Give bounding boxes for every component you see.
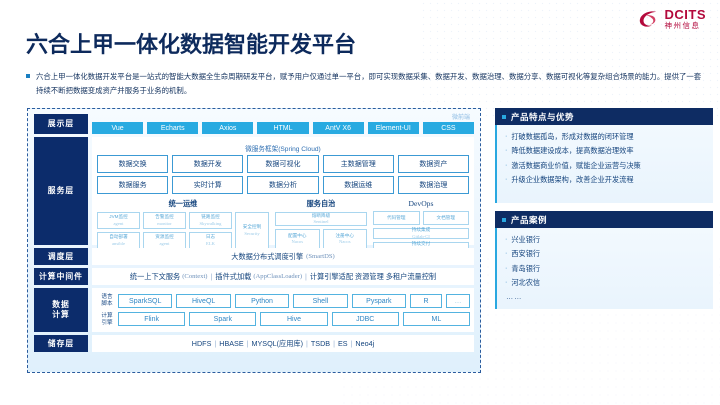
- tech-tag[interactable]: Element-UI: [368, 122, 419, 134]
- group-title-devops: DevOps: [373, 199, 469, 208]
- slide-canvas: DCITS 神州信息 六合上甲一体化数据智能开发平台 六合上甲一体化数据开发平台…: [0, 0, 720, 405]
- ops-item[interactable]: 告警监控 monitor: [143, 212, 186, 229]
- case-item: · 西安银行: [505, 249, 707, 258]
- case-item: · 河北农信: [505, 278, 707, 287]
- advantage-text: 升级企业数据架构，改善企业开发流程: [511, 175, 633, 184]
- compute-layer-body: 语言 脚本 计算 引擎 SparkSQL HiveQL Python Shell…: [92, 288, 474, 332]
- card-advantages-body: · 打破数据孤岛，形成对数据的闭环管理 · 降低数据建设成本，提高数据治理效率 …: [495, 125, 713, 203]
- advantage-text: 激活数据商业价值，赋能企业运营与决策: [511, 161, 640, 170]
- card-cases: 产品案例 · 兴业银行 · 西安银行 · 青岛银行 · 河北农信: [495, 211, 713, 309]
- service-capability[interactable]: 主数据管理: [323, 155, 394, 173]
- case-text: 青岛银行: [511, 264, 540, 273]
- service-capability-row-2: 数据服务 实时计算 数据分析 数据运维 数据治理: [97, 176, 469, 194]
- advantage-item: · 激活数据商业价值，赋能企业运营与决策: [505, 161, 707, 170]
- advantage-text: 打破数据孤岛，形成对数据的闭环管理: [511, 132, 633, 141]
- ops-item[interactable]: 资源监控 agent: [143, 232, 186, 249]
- storage-item: TSDB: [311, 339, 330, 348]
- case-text: 西安银行: [511, 249, 540, 258]
- bullet-dot-icon: ·: [505, 235, 507, 244]
- case-more: ……: [505, 292, 707, 301]
- tech-tag[interactable]: CSS: [423, 122, 474, 134]
- advantage-text: 降低数据建设成本，提高数据治理效率: [511, 146, 633, 155]
- unified-ops-row-b: 自动部署 ansible 资源监控 agent 日志: [97, 232, 232, 249]
- ops-item[interactable]: JVM监控 agent: [97, 212, 140, 229]
- ops-item-en: ansible: [112, 241, 125, 247]
- service-capability[interactable]: 数据交换: [97, 155, 168, 173]
- schedule-engine-code: (SmartDS): [306, 253, 335, 260]
- card-advantages: 产品特点与优势 · 打破数据孤岛，形成对数据的闭环管理 · 降低数据建设成本，提…: [495, 108, 713, 203]
- intro-text: 六合上甲一体化数据开发平台是一站式的智能大数据全生命周期研发平台，赋予用户仅通过…: [36, 70, 706, 97]
- service-capability[interactable]: 数据分析: [247, 176, 318, 194]
- middleware-layer-row: 计算中间件 统一上下文服务 (Context) | 插件式加载 (AppClas…: [34, 268, 474, 285]
- ops-item-en: monitor: [157, 221, 172, 227]
- layer-label-middleware: 计算中间件: [34, 268, 88, 285]
- brand-name-cn: 神州信息: [665, 22, 707, 30]
- language-chip[interactable]: R: [410, 294, 442, 308]
- bullet-dot-icon: ·: [505, 146, 507, 155]
- card-cases-header: 产品案例: [495, 211, 713, 228]
- storage-item: MYSQL(应用库): [252, 339, 304, 349]
- case-text: 兴业银行: [511, 235, 540, 244]
- governance-item-en: Nacos: [292, 239, 303, 245]
- ops-item-en: ELK: [206, 241, 215, 247]
- group-unified-ops: 统一运维 JVM监控 agent 告警监控: [97, 199, 269, 253]
- case-item: · 青岛银行: [505, 264, 707, 273]
- service-capability[interactable]: 数据开发: [172, 155, 243, 173]
- middleware-part: 计算引擎适配 资源管理 多租户流量控制: [310, 272, 436, 282]
- governance-item[interactable]: 熔断降级 Sentinel: [275, 212, 367, 226]
- engine-chip[interactable]: Hive: [260, 312, 327, 326]
- middleware-part: 统一上下文服务: [130, 272, 180, 282]
- unified-ops-grid: JVM监控 agent 告警监控 monitor 链路监控: [97, 212, 269, 249]
- group-title-unified-ops: 统一运维: [97, 199, 269, 209]
- advantage-item: · 打破数据孤岛，形成对数据的闭环管理: [505, 132, 707, 141]
- separator: |: [305, 272, 307, 281]
- bullet-dot-icon: ·: [505, 132, 507, 141]
- layer-label-schedule: 调度层: [34, 248, 88, 265]
- devops-item-cn: 文档管理: [437, 215, 455, 221]
- storage-item: HBASE: [219, 339, 243, 348]
- case-text: 河北农信: [511, 278, 540, 287]
- schedule-layer-row: 调度层 大数据分布式调度引擎 (SmartDS): [34, 248, 474, 265]
- language-chip[interactable]: Python: [235, 294, 289, 308]
- presentation-tag-list: Vue Echarts Axios HTML AntV X6 Element-U…: [92, 122, 474, 134]
- card-advantages-title: 产品特点与优势: [511, 111, 574, 123]
- engine-chip[interactable]: JDBC: [332, 312, 399, 326]
- group-devops: DevOps 代码管理 文档管理 持续集成: [373, 199, 469, 253]
- bullet-dot-icon: ·: [505, 264, 507, 273]
- layer-label-compute-line2: 计算: [52, 310, 70, 320]
- service-layer-body: 微服务框架(Spring Cloud) 数据交换 数据开发 数据可视化 主数据管…: [92, 137, 474, 245]
- compute-side-labels: 语言 脚本 计算 引擎: [96, 291, 118, 329]
- devops-item-cn: 代码管理: [387, 215, 405, 221]
- ops-item[interactable]: 链路监控 Skywalking: [189, 212, 232, 229]
- language-chip[interactable]: SparkSQL: [118, 294, 172, 308]
- layer-label-service: 服务层: [34, 137, 88, 245]
- unified-ops-row-a: JVM监控 agent 告警监控 monitor 链路监控: [97, 212, 232, 229]
- architecture-diagram: 展示层 微前端 Vue Echarts Axios HTML AntV X6 E…: [27, 108, 481, 373]
- ops-item-security[interactable]: 安全控制 Security: [235, 212, 269, 249]
- ops-item[interactable]: 日志 ELK: [189, 232, 232, 249]
- group-title-service-governance: 服务自治: [275, 199, 367, 209]
- tech-tag[interactable]: Echarts: [147, 122, 198, 134]
- governance-item[interactable]: 配置中心 Nacos: [275, 229, 320, 249]
- unified-ops-left: JVM监控 agent 告警监控 monitor 链路监控: [97, 212, 232, 249]
- governance-row: 配置中心 Nacos 注册中心 Nacos: [275, 229, 367, 249]
- separator: |: [214, 339, 216, 348]
- service-support-groups: 统一运维 JVM监控 agent 告警监控: [97, 199, 469, 253]
- brand-logo: DCITS 神州信息: [638, 8, 707, 30]
- engine-chip[interactable]: Flink: [118, 312, 185, 326]
- schedule-engine-name: 大数据分布式调度引擎: [231, 252, 303, 262]
- storage-item: ES: [338, 339, 348, 348]
- devops-item[interactable]: 代码管理: [373, 211, 420, 225]
- language-chip[interactable]: HiveQL: [176, 294, 230, 308]
- service-governance-grid: 熔断降级 Sentinel 配置中心 Nacos 注册中心 N: [275, 212, 367, 249]
- swirl-logo-icon: [638, 9, 660, 29]
- bullet-dot-icon: ·: [505, 161, 507, 170]
- separator: |: [247, 339, 249, 348]
- separator: |: [306, 339, 308, 348]
- bullet-square-icon: [502, 115, 506, 119]
- card-advantages-header: 产品特点与优势: [495, 108, 713, 125]
- devops-item-en: Gitlab-CI: [412, 234, 430, 240]
- tech-tag[interactable]: Axios: [202, 122, 253, 134]
- bullet-dot-icon: ·: [505, 249, 507, 258]
- service-capability[interactable]: 实时计算: [172, 176, 243, 194]
- bullet-square-icon: [502, 218, 506, 222]
- storage-layer-body: HDFS | HBASE | MYSQL(应用库) | TSDB | ES | …: [92, 335, 474, 352]
- bullet-dot-icon: ·: [505, 175, 507, 184]
- presentation-layer-body: 微前端 Vue Echarts Axios HTML AntV X6 Eleme…: [92, 114, 474, 134]
- advantage-item: · 降低数据建设成本，提高数据治理效率: [505, 146, 707, 155]
- separator: |: [351, 339, 353, 348]
- presentation-layer-row: 展示层 微前端 Vue Echarts Axios HTML AntV X6 E…: [34, 114, 474, 134]
- service-capability[interactable]: 数据治理: [398, 176, 469, 194]
- middleware-part: 插件式加载: [215, 272, 251, 282]
- compute-side-label-engine: 计算 引擎: [96, 313, 118, 326]
- devops-item[interactable]: 持续集成 Gitlab-CI: [373, 228, 469, 239]
- storage-layer-row: 储存层 HDFS | HBASE | MYSQL(应用库) | TSDB | E…: [34, 335, 474, 352]
- service-capability[interactable]: 数据可视化: [247, 155, 318, 173]
- middleware-layer-body: 统一上下文服务 (Context) | 插件式加载 (AppClassLoade…: [92, 268, 474, 285]
- devops-item[interactable]: 文档管理: [423, 211, 470, 225]
- compute-layer-row: 数据 计算 语言 脚本 计算 引擎 SparkSQ: [34, 288, 474, 332]
- devops-row: 代码管理 文档管理: [373, 211, 469, 225]
- card-cases-body: · 兴业银行 · 西安银行 · 青岛银行 · 河北农信 ……: [495, 228, 713, 309]
- unified-ops-right: 安全控制 Security: [235, 212, 269, 249]
- advantage-item: · 升级企业数据架构，改善企业开发流程: [505, 175, 707, 184]
- layer-label-compute: 数据 计算: [34, 288, 88, 332]
- schedule-layer-body: 大数据分布式调度引擎 (SmartDS): [92, 248, 474, 265]
- tech-tag[interactable]: Vue: [92, 122, 143, 134]
- service-capability[interactable]: 数据资产: [398, 155, 469, 173]
- separator: |: [333, 339, 335, 348]
- middleware-part-code: (AppClassLoader): [253, 273, 302, 280]
- ops-item-en: agent: [114, 221, 124, 227]
- brand-logo-text: DCITS 神州信息: [665, 8, 707, 30]
- compute-chip-rows: SparkSQL HiveQL Python Shell Pyspark R ……: [118, 291, 470, 329]
- middleware-part-code: (Context): [182, 273, 207, 280]
- ops-item-en: Skywalking: [200, 221, 222, 227]
- layer-label-compute-line1: 数据: [52, 300, 70, 310]
- presentation-caption: 微前端: [92, 115, 474, 122]
- ops-item-en: Security: [244, 231, 259, 237]
- service-layer-row: 服务层 微服务框架(Spring Cloud) 数据交换 数据开发 数据可视化 …: [34, 137, 474, 245]
- engine-chip[interactable]: ML: [403, 312, 470, 326]
- intro-paragraph: 六合上甲一体化数据开发平台是一站式的智能大数据全生命周期研发平台，赋予用户仅通过…: [26, 70, 706, 97]
- bullet-square-icon: [26, 74, 30, 78]
- language-chip-more[interactable]: …: [446, 294, 470, 308]
- side-panel: 产品特点与优势 · 打破数据孤岛，形成对数据的闭环管理 · 降低数据建设成本，提…: [495, 108, 713, 317]
- service-capability[interactable]: 数据服务: [97, 176, 168, 194]
- layer-label-presentation: 展示层: [34, 114, 88, 134]
- group-service-governance: 服务自治 熔断降级 Sentinel 配置中心 Nacos: [275, 199, 367, 253]
- bullet-dot-icon: ·: [505, 278, 507, 287]
- language-chip[interactable]: Pyspark: [352, 294, 406, 308]
- case-item: · 兴业银行: [505, 235, 707, 244]
- engine-chip[interactable]: Spark: [189, 312, 256, 326]
- compute-language-row: SparkSQL HiveQL Python Shell Pyspark R …: [118, 294, 470, 308]
- tech-tag[interactable]: AntV X6: [313, 122, 364, 134]
- tech-tag[interactable]: HTML: [257, 122, 308, 134]
- compute-engine-row: Flink Spark Hive JDBC ML: [118, 312, 470, 326]
- service-capability[interactable]: 数据运维: [323, 176, 394, 194]
- card-cases-title: 产品案例: [511, 214, 547, 226]
- brand-name-en: DCITS: [665, 8, 707, 21]
- devops-grid: 代码管理 文档管理 持续集成 Gitlab-CI: [373, 211, 469, 253]
- language-chip[interactable]: Shell: [293, 294, 347, 308]
- storage-item: Neo4j: [355, 339, 374, 348]
- ops-item-en: agent: [160, 241, 170, 247]
- storage-item: HDFS: [192, 339, 212, 348]
- governance-item[interactable]: 注册中心 Nacos: [323, 229, 368, 249]
- governance-item-en: Sentinel: [313, 219, 328, 225]
- framework-caption: 微服务框架(Spring Cloud): [97, 141, 469, 155]
- governance-item-en: Nacos: [339, 239, 350, 245]
- compute-side-label-language: 语言 脚本: [96, 294, 118, 307]
- ops-item[interactable]: 自动部署 ansible: [97, 232, 140, 249]
- page-title: 六合上甲一体化数据智能开发平台: [26, 27, 356, 59]
- layer-label-storage: 储存层: [34, 335, 88, 352]
- separator: |: [211, 272, 213, 281]
- service-capability-row-1: 数据交换 数据开发 数据可视化 主数据管理 数据资产: [97, 155, 469, 173]
